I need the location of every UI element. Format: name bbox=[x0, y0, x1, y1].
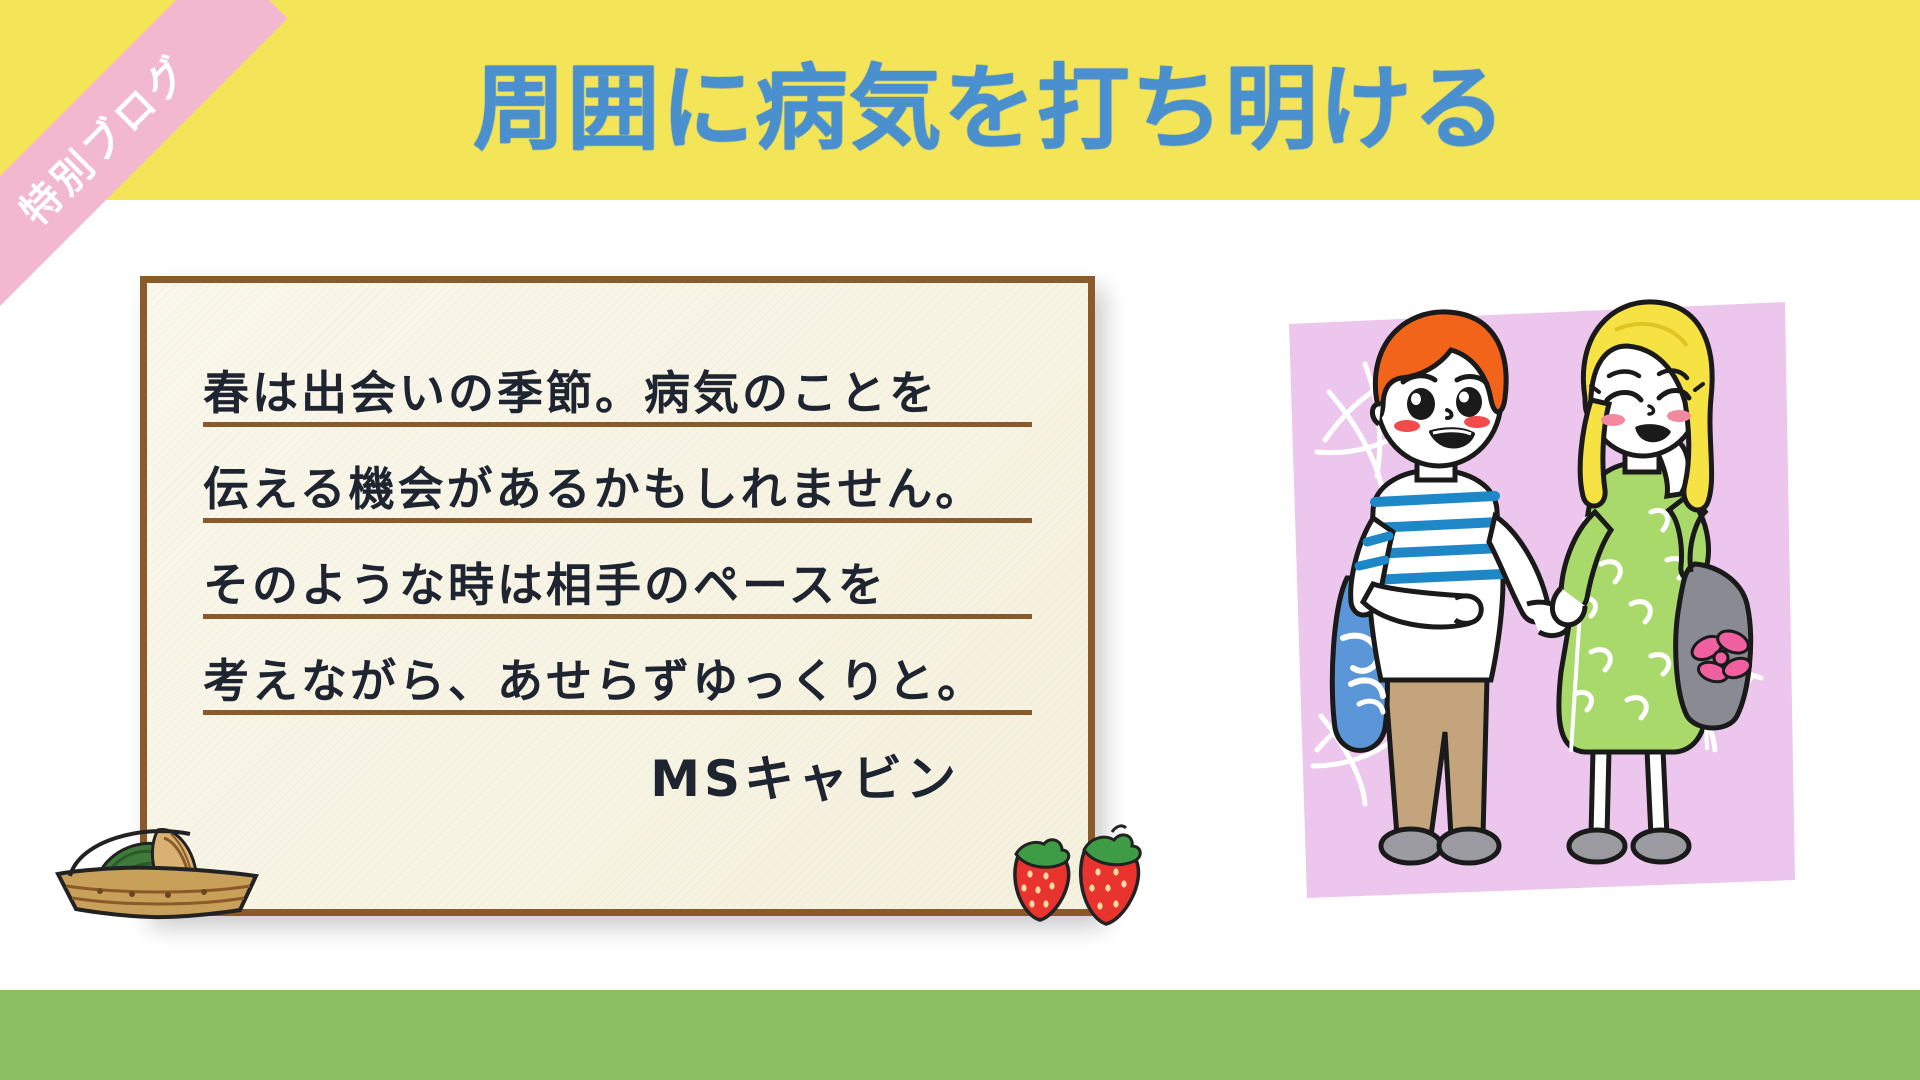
poster-canvas: 周囲に病気を打ち明ける 特別ブログ 春は出会いの季節。病気のことを 伝える機会が… bbox=[0, 0, 1920, 1080]
note-signature-text: MSキャビン bbox=[650, 739, 960, 811]
note-line: そのような時は相手のペースを bbox=[203, 523, 1032, 619]
note-signature: MSキャビン bbox=[203, 715, 1032, 835]
strawberries-icon bbox=[1000, 822, 1170, 932]
note-line-text: そのような時は相手のペースを bbox=[203, 562, 887, 608]
note-line: 伝える機会があるかもしれません。 bbox=[203, 427, 1032, 523]
note-line-text: 春は出会いの季節。病気のことを bbox=[203, 370, 938, 416]
footer-band bbox=[0, 990, 1920, 1080]
basket-with-bamboo-shoots-icon bbox=[40, 790, 280, 920]
handwritten-note-card: 春は出会いの季節。病気のことを 伝える機会があるかもしれません。 そのような時は… bbox=[140, 276, 1095, 916]
note-line: 考えながら、あせらずゆっくりと。 bbox=[203, 619, 1032, 715]
two-women-talking-illustration bbox=[1255, 280, 1815, 930]
note-line-text: 伝える機会があるかもしれません。 bbox=[203, 466, 984, 512]
note-card-body: 春は出会いの季節。病気のことを 伝える機会があるかもしれません。 そのような時は… bbox=[147, 283, 1088, 909]
note-line-text: 考えながら、あせらずゆっくりと。 bbox=[203, 658, 986, 704]
note-line: 春は出会いの季節。病気のことを bbox=[203, 331, 1032, 427]
page-title: 周囲に病気を打ち明ける bbox=[0, 0, 1920, 200]
